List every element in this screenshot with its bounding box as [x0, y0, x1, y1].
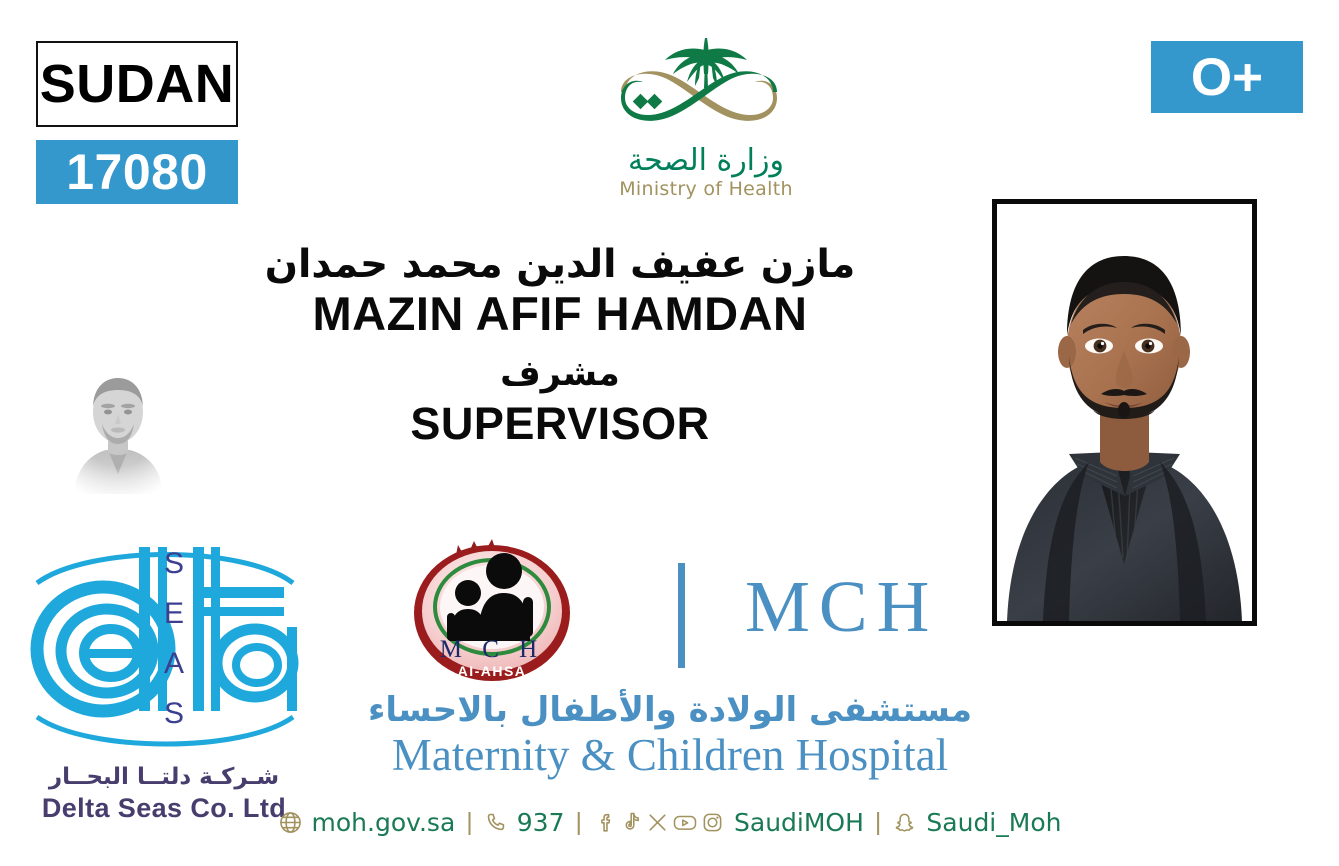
tiktok-icon[interactable]: [619, 810, 644, 835]
nationality-box: SUDAN: [36, 41, 238, 127]
instagram-icon[interactable]: [700, 810, 725, 835]
employee-id-number: 17080: [66, 147, 208, 197]
identity-block: مازن عفيف الدين محمد حمدان MAZIN AFIF HA…: [190, 243, 930, 449]
footer-separator-3: |: [873, 810, 884, 835]
ghost-portrait: [58, 362, 178, 494]
holder-name-english: MAZIN AFIF HAMDAN: [190, 289, 930, 340]
ministry-name-english: Ministry of Health: [619, 179, 793, 200]
blood-type-box: O+: [1151, 41, 1303, 113]
hospital-name-block: مستشفى الولادة والأطفال بالاحساء Materni…: [300, 692, 1040, 781]
holder-portrait-image: [997, 204, 1252, 621]
delta-seas-logo-icon: S E A S: [19, 531, 309, 763]
mch-divider: [678, 563, 685, 668]
phone-number-text[interactable]: 937: [517, 810, 565, 835]
footer-separator-1: |: [464, 810, 475, 835]
snapchat-handle-text[interactable]: Saudi_Moh: [926, 810, 1061, 835]
id-badge-card: SUDAN 17080 O+: [0, 0, 1339, 866]
footer-contact-bar: moh.gov.sa | 937 |: [0, 810, 1339, 835]
globe-icon: [278, 810, 303, 835]
mch-emblem-image: M C H AI-AHSA: [392, 531, 592, 686]
svg-text:S: S: [164, 547, 184, 580]
footer-separator-2: |: [574, 810, 585, 835]
moh-ribbon-green: [621, 71, 777, 121]
holder-title-english: SUPERVISOR: [190, 399, 930, 449]
snapchat-icon[interactable]: [892, 810, 917, 835]
ministry-name-arabic: وزارة الصحة: [628, 146, 784, 176]
ministry-of-health-logo: وزارة الصحة Ministry of Health: [572, 34, 840, 214]
holder-title-arabic: مشرف: [190, 353, 930, 395]
employee-id-box: 17080: [36, 140, 238, 204]
svg-text:AI-AHSA: AI-AHSA: [458, 663, 527, 679]
holder-name-arabic: مازن عفيف الدين محمد حمدان: [190, 243, 930, 287]
svg-text:M C H: M C H: [440, 636, 544, 663]
moh-emblem-icon: [591, 34, 821, 144]
mch-emblem-icon: M C H AI-AHSA: [392, 531, 592, 686]
svg-text:A: A: [164, 647, 184, 680]
company-logo-block: S E A S شـركـة دلتــا البحــار Delta Sea…: [14, 531, 314, 824]
nationality-label: SUDAN: [40, 57, 235, 111]
mch-wordmark: MCH: [745, 570, 938, 643]
facebook-icon[interactable]: [593, 810, 618, 835]
youtube-icon[interactable]: [671, 810, 699, 835]
holder-portrait-frame: [992, 199, 1257, 626]
social-handle-text[interactable]: SaudiMOH: [734, 810, 864, 835]
hospital-name-english: Maternity & Children Hospital: [300, 731, 1040, 781]
website-text[interactable]: moh.gov.sa: [312, 810, 456, 835]
hospital-name-arabic: مستشفى الولادة والأطفال بالاحساء: [300, 692, 1040, 729]
phone-icon: [484, 811, 508, 835]
blood-type-label: O+: [1191, 51, 1263, 104]
social-icon-group: [593, 810, 725, 835]
company-name-arabic: شـركـة دلتــا البحــار: [14, 765, 314, 790]
svg-text:S: S: [164, 697, 184, 730]
ghost-portrait-image: [58, 362, 178, 494]
svg-text:E: E: [164, 597, 184, 630]
x-twitter-icon[interactable]: [645, 810, 670, 835]
